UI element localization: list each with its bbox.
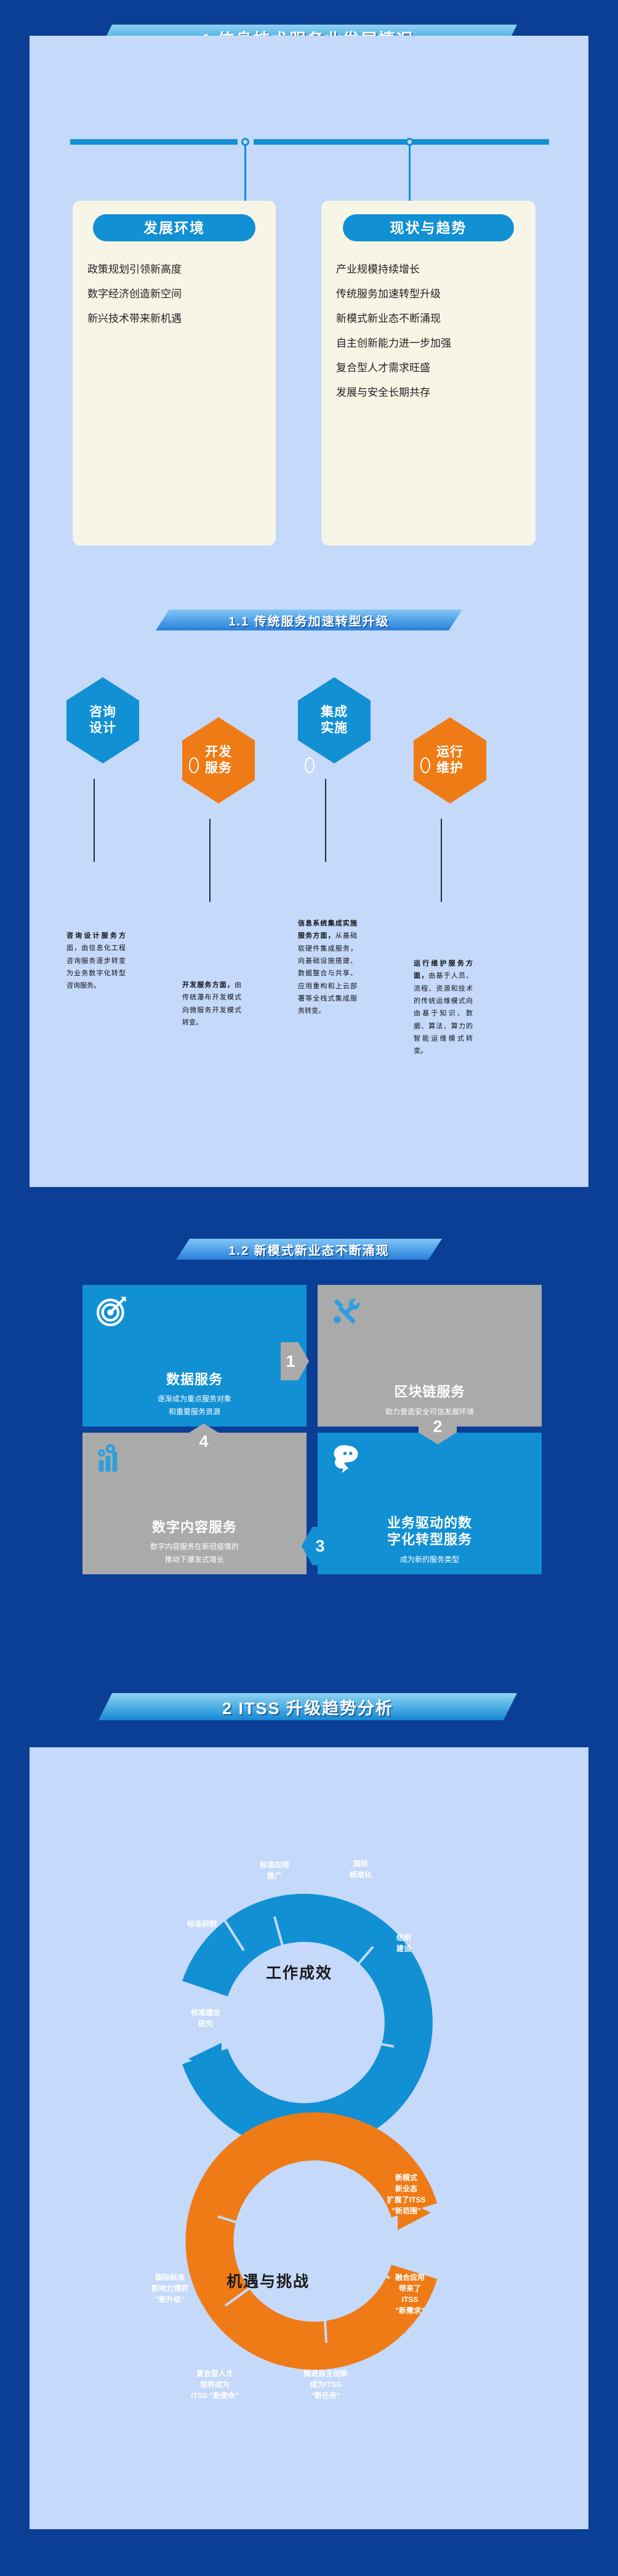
arc-label-international-upgrade: 国际标准 影响力博弈 "新升级": [133, 2272, 207, 2305]
list-item: 新模式新业态不断涌现: [321, 307, 536, 331]
quad-business-driven-service: 业务驱动的数 字化转型服务 成为新的服务类型: [318, 1433, 542, 1574]
section2-title: 2 ITSS 升级趋势分析: [222, 1695, 393, 1719]
arc-label-organization-building: 组织 建设: [378, 1932, 430, 1954]
arc-label-integrated-demand: 融合应用 带来了 ITSS "新需求": [378, 2272, 442, 2316]
quad-subtitle: 逐渐成为重点服务对象 和重要服务资源: [95, 1393, 294, 1418]
list-item: 自主创新能力进一步加强: [321, 331, 536, 356]
flow-number: 3: [315, 1537, 324, 1556]
flow-number: 2: [433, 1417, 442, 1436]
quad-title: 数字内容服务: [95, 1519, 294, 1536]
arc-label-standard-application: 标准应用 推广: [245, 1859, 304, 1882]
arc-label-talent-mission: 复合型人才 培养成为 ITSS "新使命": [169, 2368, 261, 2401]
list-item: 数字经济创造新空间: [73, 282, 276, 307]
hex-label: 运行 维护: [436, 744, 463, 777]
connector-rail-left: [70, 139, 238, 145]
hex-description-lead: 开发服务方面，: [182, 981, 235, 989]
list-item: 政策规划引领新高度: [73, 257, 276, 282]
card-status-and-trends: 现状与趋势 产业规模持续增长 传统服务加速转型升级 新模式新业态不断涌现 自主创…: [321, 201, 536, 545]
quad-body: 数据服务 逐渐成为重点服务对象 和重要服务资源: [95, 1371, 294, 1418]
flow-number: 1: [286, 1352, 295, 1371]
center-label-opportunities-challenges: 机遇与挑战: [227, 2269, 310, 2292]
list-item: 发展与安全长期共存: [321, 380, 536, 405]
section2-title-banner: 2 ITSS 升级趋势分析: [98, 1693, 517, 1720]
arc-label-internationalization: 国际 标准化: [332, 1858, 389, 1880]
hex-label: 开发 服务: [205, 744, 232, 777]
quad-body: 业务驱动的数 字化转型服务 成为新的服务类型: [330, 1515, 529, 1566]
center-label-work-results: 工作成效: [266, 1961, 332, 1983]
quad-subtitle: 数字内容服务在新冠疫情的 推动下爆发式增长: [95, 1540, 294, 1566]
card-chip-title: 发展环境: [93, 214, 255, 241]
arc-label-innovation-task: 推进自主创新 成为ITSS "新任务": [287, 2368, 364, 2401]
section1_2-title: 1.2 新模式新业态不断涌现: [228, 1241, 389, 1258]
arc-label-standard-development: 标准研制: [172, 1918, 231, 1930]
hex-joint-2: [305, 757, 315, 773]
card-development-environment: 发展环境 政策规划引领新高度 数字经济创造新空间 新兴技术带来新机遇: [73, 201, 276, 545]
hex-description-4: 运行维护服务方面，由基于人员、流程、资源和技术的传统运维模式向由基于知识、数据、…: [414, 957, 473, 1058]
quad-digital-content-service: 数字内容服务 数字内容服务在新冠疫情的 推动下爆发式增长: [82, 1433, 307, 1574]
connector-rail-right: [254, 139, 549, 145]
quad-body: 区块链服务 助力营造安全可信发展环境: [330, 1383, 529, 1418]
hex-description-lead: 咨询设计服务方: [66, 932, 126, 940]
hex-description-3: 信息系统集成实施服务方面，从基础软硬件集成服务，向基础设施搭建、数据整合与共享、…: [298, 917, 357, 1018]
section1_1-title: 1.1 传统服务加速转型升级: [228, 611, 389, 629]
tools-icon: [330, 1295, 529, 1333]
section1_2-title-banner: 1.2 新模式新业态不断涌现: [176, 1239, 442, 1260]
list-item: 产业规模持续增长: [321, 257, 536, 282]
hex-stem-2: [209, 819, 211, 902]
hex-joint-3: [420, 757, 430, 773]
list-item: 传统服务加速转型升级: [321, 282, 536, 307]
hex-label: 咨询 设计: [89, 704, 116, 737]
hex-stem-4: [441, 819, 442, 902]
target-icon: [95, 1295, 294, 1333]
quad-body: 数字内容服务 数字内容服务在新冠疫情的 推动下爆发式增长: [95, 1519, 294, 1566]
arc-label-new-model-scope: 新模式 新业态 扩展了ITSS "新范围": [372, 2172, 441, 2216]
section1_1-title-banner: 1.1 传统服务加速转型升级: [156, 610, 462, 630]
card-item-list: 政策规划引领新高度 数字经济创造新空间 新兴技术带来新机遇: [73, 257, 276, 331]
quad-title: 数据服务: [95, 1371, 294, 1388]
quad-subtitle: 助力营造安全可信发展环境: [330, 1406, 529, 1418]
hex-stem-1: [94, 779, 95, 862]
quad-title: 区块链服务: [330, 1383, 529, 1401]
hex-label: 集成 实施: [321, 704, 348, 737]
list-item: 复合型人才需求旺盛: [321, 356, 536, 380]
hex-description-rest: 从基础软硬件集成服务，向基础设施搭建、数据整合与共享、应用重构和上云部署等全栈式…: [298, 932, 357, 1015]
flow-arrow-4: 4: [185, 1423, 223, 1452]
list-item: 新兴技术带来新机遇: [73, 307, 276, 331]
flow-number: 4: [199, 1432, 208, 1451]
chat-icon: [330, 1443, 529, 1481]
card-chip-title: 现状与趋势: [343, 214, 514, 241]
card-item-list: 产业规模持续增长 传统服务加速转型升级 新模式新业态不断涌现 自主创新能力进一步…: [321, 257, 536, 405]
infographic-page: 1 信息技术服务业发展情况 发展环境 政策规划引领新高度 数字经济创造新空间 新…: [0, 0, 618, 2576]
hex-joint-1: [189, 757, 199, 773]
hex-stem-3: [325, 779, 326, 862]
quad-subtitle: 成为新的服务类型: [330, 1553, 529, 1566]
quad-blockchain-service: 区块链服务 助力营造安全可信发展环境: [318, 1285, 542, 1427]
quad-data-service: 数据服务 逐渐成为重点服务对象 和重要服务资源: [82, 1285, 307, 1427]
hex-description-1: 咨询设计服务方面，由信息化工程咨询服务逐步转变为业务数字化转型咨询服务。: [66, 930, 126, 992]
hex-description-rest: 由基于人员、流程、资源和技术的传统运维模式向由基于知识、数据、算法、算力的智能运…: [414, 972, 473, 1055]
quad-title: 业务驱动的数 字化转型服务: [330, 1515, 529, 1548]
hex-description-2: 开发服务方面，由传统瀑布开发模式向微服务开发模式转变。: [182, 979, 241, 1029]
hex-description-rest: 面，由信息化工程咨询服务逐步转变为业务数字化转型咨询服务。: [66, 944, 126, 989]
arc-label-standard-theory: 标准理论 研究: [177, 2007, 234, 2029]
